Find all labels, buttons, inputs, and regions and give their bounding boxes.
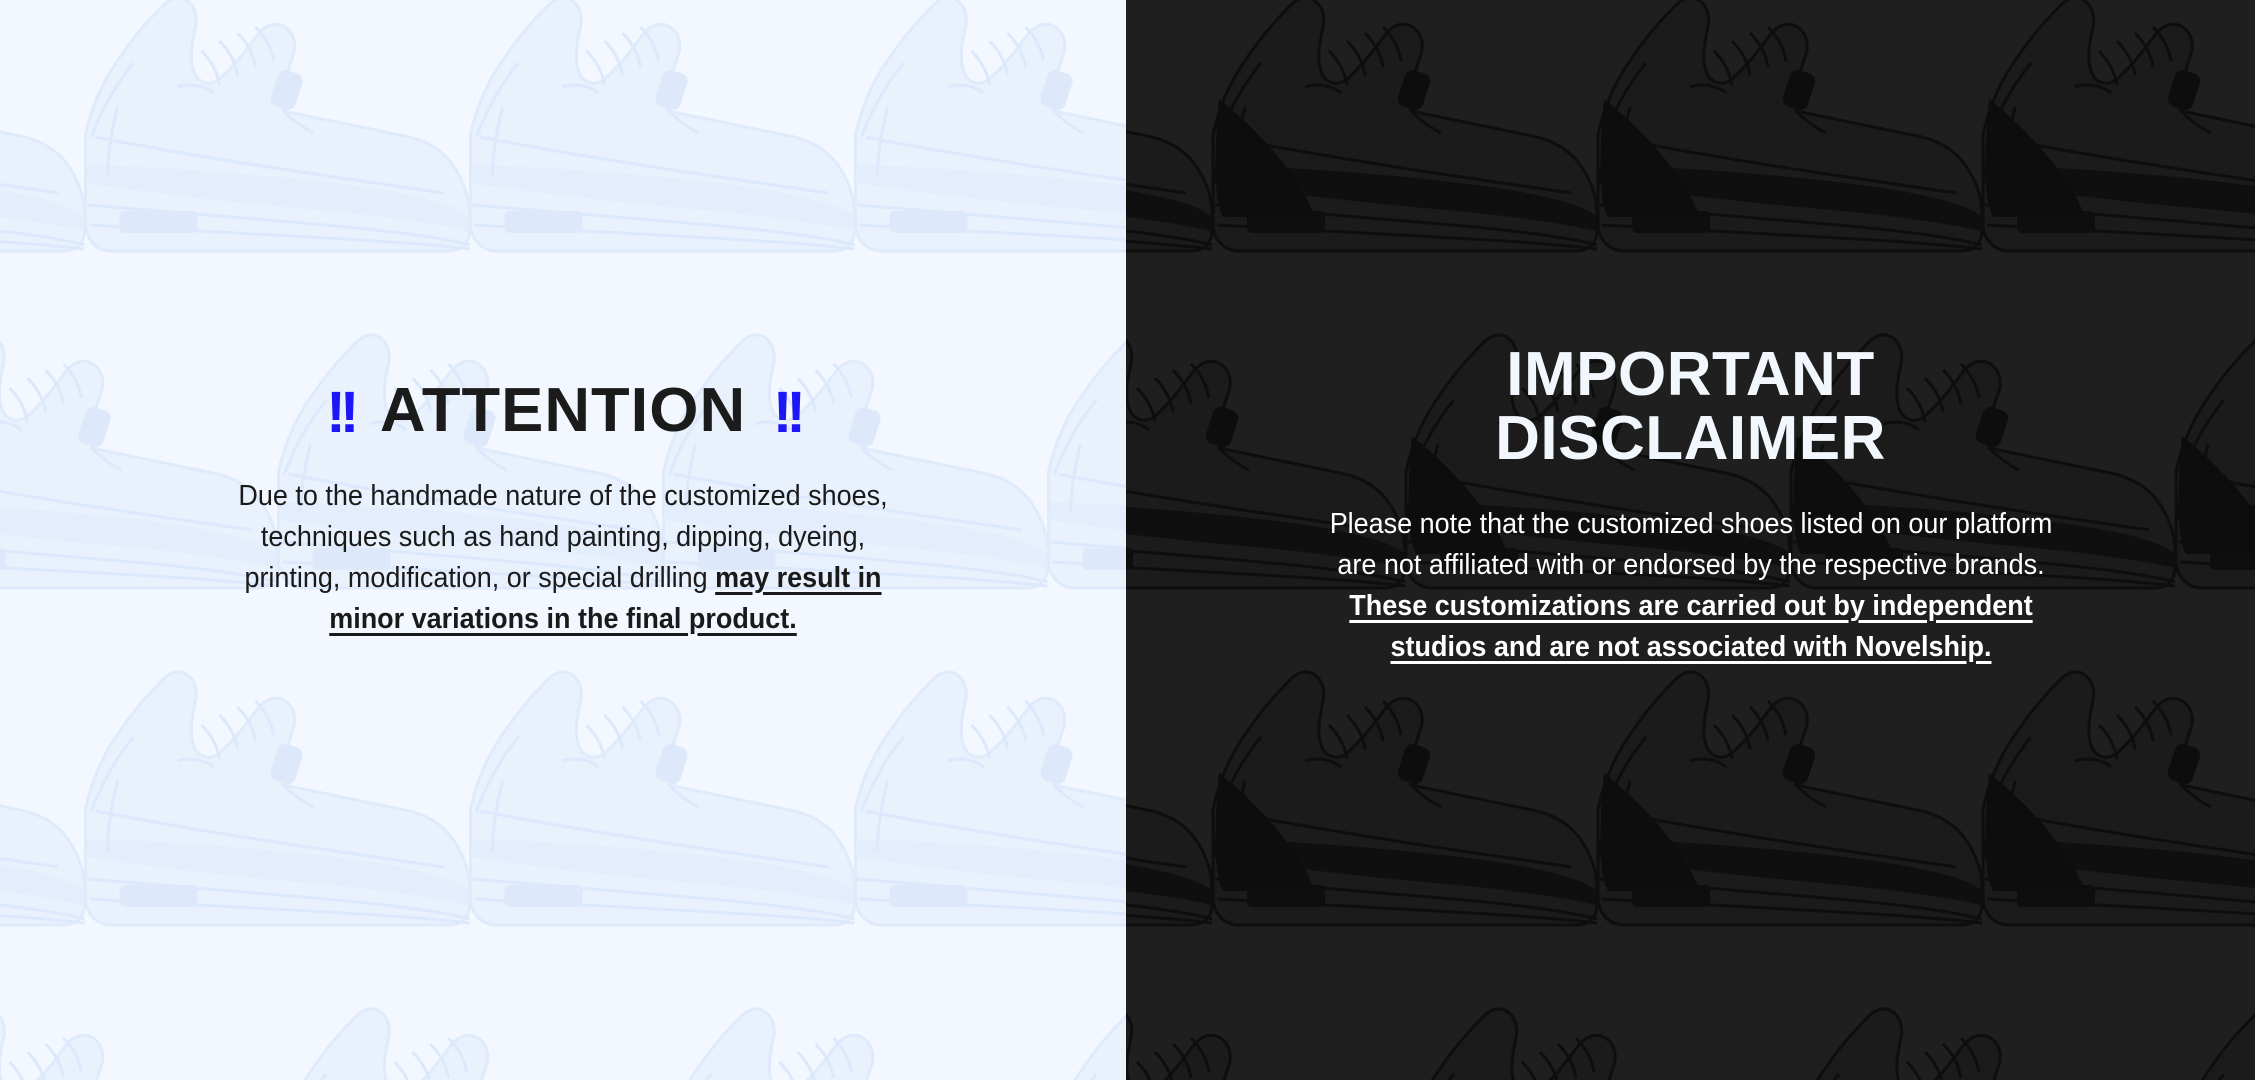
disclaimer-heading: IMPORTANT DISCLAIMER (1246, 343, 2135, 469)
attention-heading: !! ATTENTION !! (91, 380, 1036, 442)
attention-body: Due to the handmade nature of the custom… (210, 476, 917, 641)
disclaimer-heading-line-1: IMPORTANT (1506, 340, 1874, 409)
double-exclamation-icon-right: !! (773, 384, 800, 442)
disclaimer-content: IMPORTANT DISCLAIMER Please note that th… (1126, 343, 2255, 668)
double-exclamation-icon-left: !! (326, 384, 353, 442)
disclaimer-body: Please note that the customized shoes li… (1319, 504, 2063, 669)
disclaimer-body-plain: Please note that the customized shoes li… (1329, 508, 2052, 581)
disclaimer-heading-line-2: DISCLAIMER (1495, 404, 1886, 473)
attention-heading-text: ATTENTION (380, 380, 746, 442)
disclaimer-banner: !! ATTENTION !! Due to the handmade natu… (0, 0, 2255, 1080)
disclaimer-panel: IMPORTANT DISCLAIMER Please note that th… (1126, 0, 2255, 1080)
attention-content: !! ATTENTION !! Due to the handmade natu… (0, 380, 1126, 641)
attention-panel: !! ATTENTION !! Due to the handmade natu… (0, 0, 1126, 1080)
disclaimer-body-emphasis: These customizations are carried out by … (1349, 590, 2032, 663)
